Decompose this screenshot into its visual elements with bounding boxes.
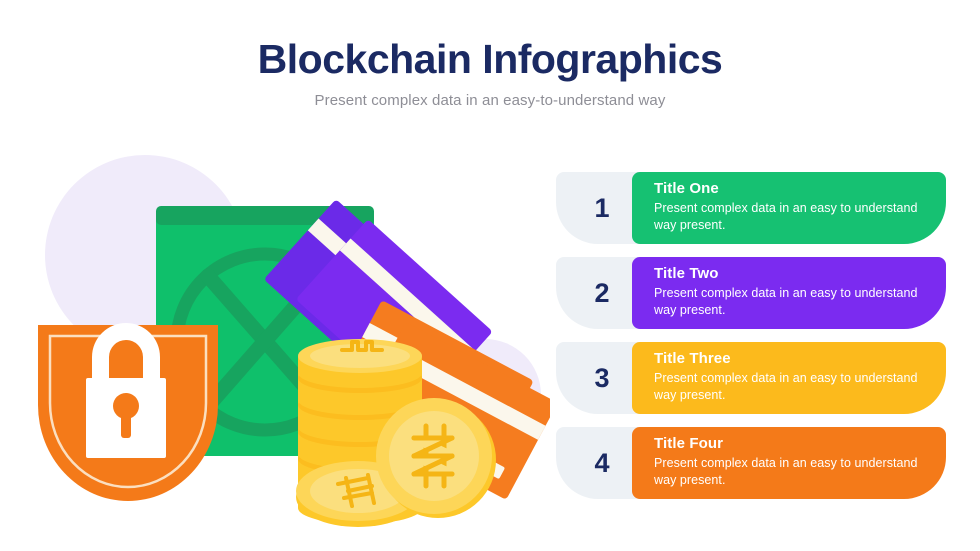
list-item[interactable]: 2 Title Two Present complex data in an e… bbox=[556, 257, 946, 329]
item-content-3[interactable]: Title Three Present complex data in an e… bbox=[632, 342, 946, 414]
item-description-2: Present complex data in an easy to under… bbox=[654, 285, 924, 319]
item-number-panel-3: 3 bbox=[556, 342, 644, 414]
item-content-4[interactable]: Title Four Present complex data in an ea… bbox=[632, 427, 946, 499]
item-number-2: 2 bbox=[590, 280, 609, 307]
item-description-1: Present complex data in an easy to under… bbox=[654, 200, 924, 234]
header: Blockchain Infographics Present complex … bbox=[0, 38, 980, 109]
item-number-panel-1: 1 bbox=[556, 172, 644, 244]
blockchain-security-illustration bbox=[30, 150, 550, 530]
item-title-1: Title One bbox=[654, 180, 924, 198]
item-description-3: Present complex data in an easy to under… bbox=[654, 370, 924, 404]
item-title-2: Title Two bbox=[654, 265, 924, 283]
infographic-list: 1 Title One Present complex data in an e… bbox=[556, 172, 946, 499]
item-number-4: 4 bbox=[590, 450, 609, 477]
slide-canvas: Blockchain Infographics Present complex … bbox=[0, 0, 980, 551]
orange-shield-with-padlock bbox=[38, 323, 218, 501]
item-number-3: 3 bbox=[590, 365, 609, 392]
page-title: Blockchain Infographics bbox=[0, 38, 980, 81]
item-number-panel-4: 4 bbox=[556, 427, 644, 499]
list-item[interactable]: 3 Title Three Present complex data in an… bbox=[556, 342, 946, 414]
item-number-1: 1 bbox=[590, 195, 609, 222]
item-title-4: Title Four bbox=[654, 435, 924, 453]
item-content-1[interactable]: Title One Present complex data in an eas… bbox=[632, 172, 946, 244]
list-item[interactable]: 4 Title Four Present complex data in an … bbox=[556, 427, 946, 499]
item-title-3: Title Three bbox=[654, 350, 924, 368]
page-subtitle: Present complex data in an easy-to-under… bbox=[0, 92, 980, 109]
list-item[interactable]: 1 Title One Present complex data in an e… bbox=[556, 172, 946, 244]
item-number-panel-2: 2 bbox=[556, 257, 644, 329]
item-description-4: Present complex data in an easy to under… bbox=[654, 455, 924, 489]
item-content-2[interactable]: Title Two Present complex data in an eas… bbox=[632, 257, 946, 329]
